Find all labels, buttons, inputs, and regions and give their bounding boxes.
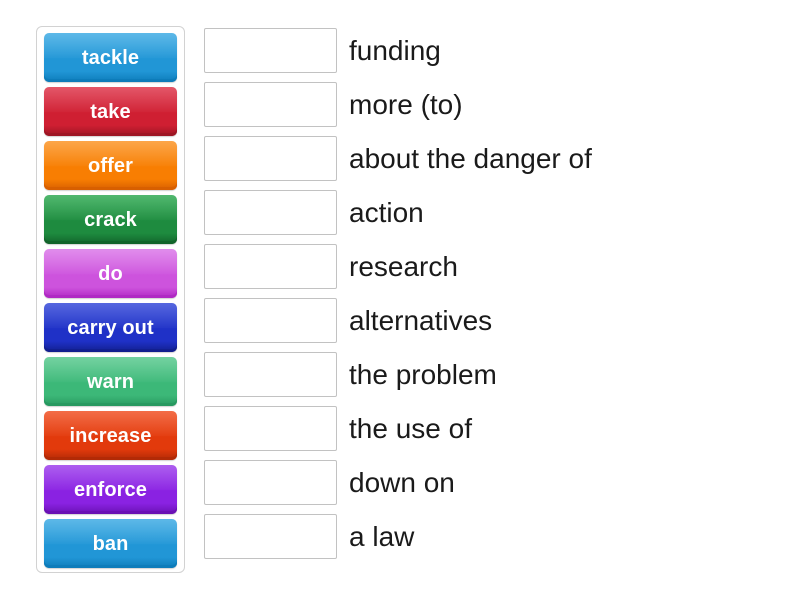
word-tile-label: crack [84, 210, 137, 230]
collocation-label: the problem [349, 361, 497, 389]
answer-row: the problem [204, 350, 764, 399]
answer-dropzone[interactable] [204, 28, 337, 73]
answer-row: action [204, 188, 764, 237]
word-tile-label: increase [70, 426, 152, 446]
word-tile[interactable]: crack [44, 195, 177, 244]
collocation-label: down on [349, 469, 455, 497]
word-tile-label: enforce [74, 480, 147, 500]
answer-row: the use of [204, 404, 764, 453]
word-tile-label: take [90, 102, 130, 122]
word-tile[interactable]: carry out [44, 303, 177, 352]
answer-dropzone[interactable] [204, 352, 337, 397]
word-tile[interactable]: tackle [44, 33, 177, 82]
collocation-label: the use of [349, 415, 472, 443]
answer-row: funding [204, 26, 764, 75]
answer-row: research [204, 242, 764, 291]
answer-dropzone[interactable] [204, 82, 337, 127]
word-tile[interactable]: ban [44, 519, 177, 568]
collocation-label: a law [349, 523, 414, 551]
word-tile-label: warn [87, 372, 134, 392]
word-tile-tray: tackletakeoffercrackdocarry outwarnincre… [36, 26, 185, 573]
answer-row: alternatives [204, 296, 764, 345]
collocation-label: funding [349, 37, 441, 65]
collocation-label: alternatives [349, 307, 492, 335]
answer-dropzone[interactable] [204, 136, 337, 181]
answer-row: about the danger of [204, 134, 764, 183]
answer-dropzone[interactable] [204, 298, 337, 343]
answer-row: more (to) [204, 80, 764, 129]
word-tile-label: tackle [82, 48, 139, 68]
word-tile[interactable]: warn [44, 357, 177, 406]
answer-rows: fundingmore (to)about the danger ofactio… [204, 26, 764, 561]
word-tile-label: offer [88, 156, 133, 176]
word-tile[interactable]: enforce [44, 465, 177, 514]
answer-dropzone[interactable] [204, 190, 337, 235]
answer-dropzone[interactable] [204, 244, 337, 289]
collocation-label: research [349, 253, 458, 281]
collocation-label: about the danger of [349, 145, 592, 173]
word-tile[interactable]: take [44, 87, 177, 136]
match-up-activity: tackletakeoffercrackdocarry outwarnincre… [0, 0, 800, 600]
word-tile[interactable]: increase [44, 411, 177, 460]
answer-dropzone[interactable] [204, 514, 337, 559]
answer-dropzone[interactable] [204, 460, 337, 505]
word-tile[interactable]: do [44, 249, 177, 298]
word-tile-label: ban [93, 534, 129, 554]
word-tile-label: do [98, 264, 123, 284]
word-tile[interactable]: offer [44, 141, 177, 190]
answer-row: a law [204, 512, 764, 561]
word-tile-label: carry out [67, 318, 154, 338]
answer-row: down on [204, 458, 764, 507]
collocation-label: more (to) [349, 91, 463, 119]
collocation-label: action [349, 199, 424, 227]
answer-dropzone[interactable] [204, 406, 337, 451]
